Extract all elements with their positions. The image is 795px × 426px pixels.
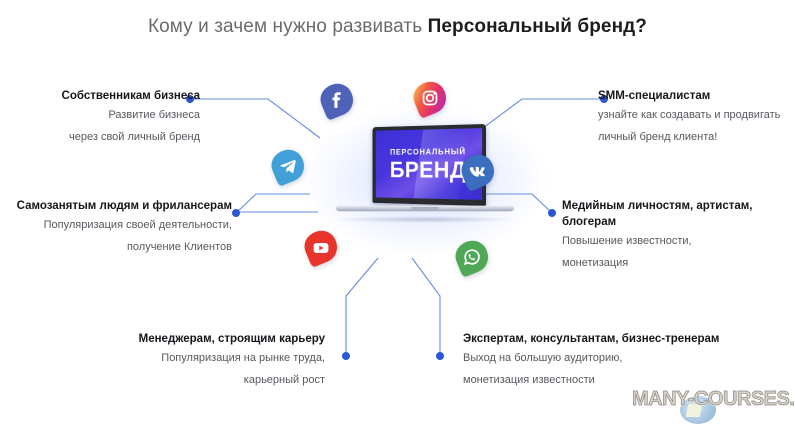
block-media-heading: Медийным личностям, артистам, блогерам [562, 198, 762, 230]
whatsapp-glyph [456, 241, 488, 273]
block-self-employed-line-2: получение Клиентов [0, 236, 232, 258]
youtube-glyph [305, 231, 337, 263]
connector-dot-managers [342, 352, 350, 360]
block-managers: Менеджерам, строящим карьеру Популяризац… [0, 331, 325, 391]
block-managers-heading: Менеджерам, строящим карьеру [0, 331, 325, 347]
facebook-icon [321, 84, 353, 116]
laptop-shadow [332, 216, 518, 223]
page-title-plain: Кому и зачем нужно развивать [148, 16, 428, 37]
facebook-glyph [321, 84, 353, 116]
vk-icon [462, 155, 494, 187]
block-media-line-2: монетизация [562, 252, 795, 274]
block-experts-heading: Экспертам, консультантам, бизнес-тренера… [463, 331, 795, 347]
infographic-canvas: Кому и зачем нужно развивать Персональны… [0, 0, 795, 426]
block-media: Медийным личностям, артистам, блогерам П… [562, 198, 795, 274]
connector-dot-media [548, 209, 556, 217]
block-smm-heading: SMM-специалистам [598, 88, 795, 104]
block-owners-line-2: через свой личный бренд [0, 126, 200, 148]
block-self-employed-heading: Самозанятым людям и фрилансерам [0, 198, 232, 214]
connector-dot-experts [436, 352, 444, 360]
screen-big-text: БРЕНД [390, 158, 466, 183]
block-media-line-1: Повышение известности, [562, 230, 795, 252]
telegram-icon [272, 150, 304, 182]
block-owners: Собственникам бизнеса Развитие бизнеса ч… [0, 88, 200, 148]
block-experts: Экспертам, консультантам, бизнес-тренера… [463, 331, 795, 391]
block-experts-line-1: Выход на большую аудиторию, [463, 347, 795, 369]
connector-dot-self-employed [232, 209, 240, 217]
laptop-trackpad-notch [411, 207, 439, 210]
instagram-icon [414, 82, 446, 114]
page-title: Кому и зачем нужно развивать Персональны… [0, 16, 795, 38]
telegram-glyph [272, 150, 304, 182]
watermark-text: MANY-COURSES.RU [632, 388, 792, 422]
page-title-bold: Персональный бренд? [428, 16, 647, 37]
block-self-employed-line-1: Популяризация своей деятельности, [0, 214, 232, 236]
instagram-glyph [414, 82, 446, 114]
block-owners-heading: Собственникам бизнеса [0, 88, 200, 104]
block-smm-line-1: узнайте как создавать и продвигать [598, 104, 795, 126]
block-managers-line-1: Популяризация на рынке труда, [0, 347, 325, 369]
block-self-employed: Самозанятым людям и фрилансерам Популяри… [0, 198, 232, 258]
vk-glyph [462, 155, 494, 187]
youtube-icon [305, 231, 337, 263]
block-smm: SMM-специалистам узнайте как создавать и… [598, 88, 795, 148]
block-smm-line-2: личный бренд клиента! [598, 126, 795, 148]
block-managers-line-2: карьерный рост [0, 369, 325, 391]
whatsapp-icon [456, 241, 488, 273]
block-owners-line-1: Развитие бизнеса [0, 104, 200, 126]
screen-top-text: ПЕРСОНАЛЬНЫЙ [390, 146, 466, 156]
